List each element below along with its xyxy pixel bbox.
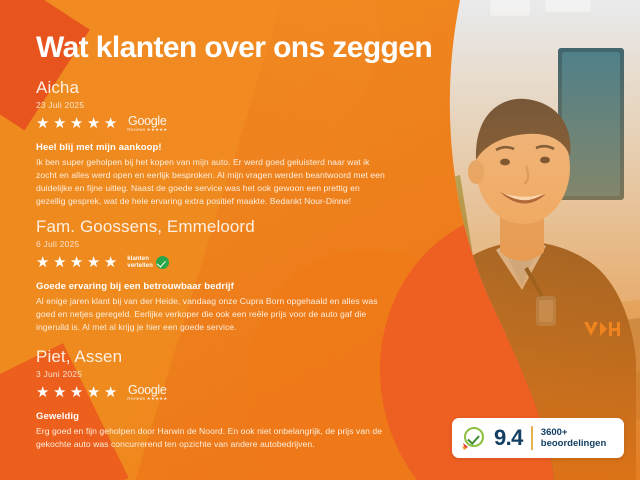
- review-count: 3600+: [541, 427, 606, 438]
- klantenvertellen-line1: klanten: [127, 256, 153, 263]
- star-icon: ★: [104, 255, 117, 270]
- review-card: Aicha 23 Juli 2025 ★ ★ ★ ★ ★ Google Revi…: [36, 78, 388, 208]
- review-headline: Geweldig: [36, 411, 388, 422]
- review-date: 3 Juni 2025: [36, 369, 388, 379]
- score-badge: 9.4 3600+ beoordelingen: [452, 418, 624, 458]
- klantenvertellen-logo: klanten vertellen: [127, 256, 169, 270]
- review-count-label: beoordelingen: [541, 438, 606, 449]
- page-title: Wat klanten over ons zeggen: [36, 31, 432, 65]
- klantenvertellen-line2: vertellen: [127, 263, 153, 270]
- star-rating: ★ ★ ★ ★ ★: [36, 116, 117, 131]
- star-rating: ★ ★ ★ ★ ★: [36, 255, 117, 270]
- star-icon: ★: [70, 255, 83, 270]
- star-icon: ★: [87, 255, 100, 270]
- star-icon: ★: [36, 385, 49, 400]
- review-date: 6 Juli 2025: [36, 239, 388, 249]
- star-icon: ★: [53, 116, 66, 131]
- review-body: Erg goed en fijn geholpen door Harwin de…: [36, 425, 388, 451]
- score-value: 9.4: [494, 427, 523, 449]
- star-icon: ★: [36, 255, 49, 270]
- reviewer-name: Aicha: [36, 78, 388, 98]
- reviewer-name: Piet, Assen: [36, 347, 388, 367]
- reviewer-name: Fam. Goossens, Emmeloord: [36, 217, 388, 237]
- review-date: 23 Juli 2025: [36, 100, 388, 110]
- review-meta: ★ ★ ★ ★ ★ Google Reviews ★★★★★: [36, 384, 388, 402]
- google-reviews-subtitle: Reviews ★★★★★: [127, 128, 167, 132]
- star-icon: ★: [70, 116, 83, 131]
- review-meta: ★ ★ ★ ★ ★ klanten vertellen: [36, 254, 388, 272]
- google-wordmark: Google: [128, 115, 167, 128]
- google-reviews-subtitle: Reviews ★★★★★: [127, 397, 167, 401]
- star-rating: ★ ★ ★ ★ ★: [36, 385, 117, 400]
- review-meta: ★ ★ ★ ★ ★ Google Reviews ★★★★★: [36, 115, 388, 133]
- review-card: Fam. Goossens, Emmeloord 6 Juli 2025 ★ ★…: [36, 217, 388, 334]
- star-icon: ★: [70, 385, 83, 400]
- review-headline: Heel blij met mijn aankoop!: [36, 142, 388, 153]
- review-card: Piet, Assen 3 Juni 2025 ★ ★ ★ ★ ★ Google…: [36, 347, 388, 451]
- check-circle-icon: [156, 256, 169, 269]
- star-icon: ★: [104, 116, 117, 131]
- star-icon: ★: [104, 385, 117, 400]
- content-layer: Wat klanten over ons zeggen Aicha 23 Jul…: [0, 0, 640, 480]
- pill-divider: [531, 426, 533, 450]
- star-icon: ★: [36, 116, 49, 131]
- review-headline: Goede ervaring bij een betrouwbaar bedri…: [36, 281, 388, 292]
- review-body: Al enige jaren klant bij van der Heide, …: [36, 295, 388, 334]
- testimonials-banner: Wat klanten over ons zeggen Aicha 23 Jul…: [0, 0, 640, 480]
- review-body: Ik ben super geholpen bij het kopen van …: [36, 156, 388, 208]
- star-icon: ★: [87, 116, 100, 131]
- klantenvertellen-wordmark: klanten vertellen: [127, 256, 153, 270]
- review-count-block: 3600+ beoordelingen: [541, 427, 606, 449]
- star-icon: ★: [53, 385, 66, 400]
- google-reviews-logo: Google Reviews ★★★★★: [127, 384, 167, 402]
- star-icon: ★: [53, 255, 66, 270]
- webwinkelkeur-seal-icon: [462, 426, 486, 450]
- google-reviews-logo: Google Reviews ★★★★★: [127, 115, 167, 133]
- google-wordmark: Google: [128, 384, 167, 397]
- star-icon: ★: [87, 385, 100, 400]
